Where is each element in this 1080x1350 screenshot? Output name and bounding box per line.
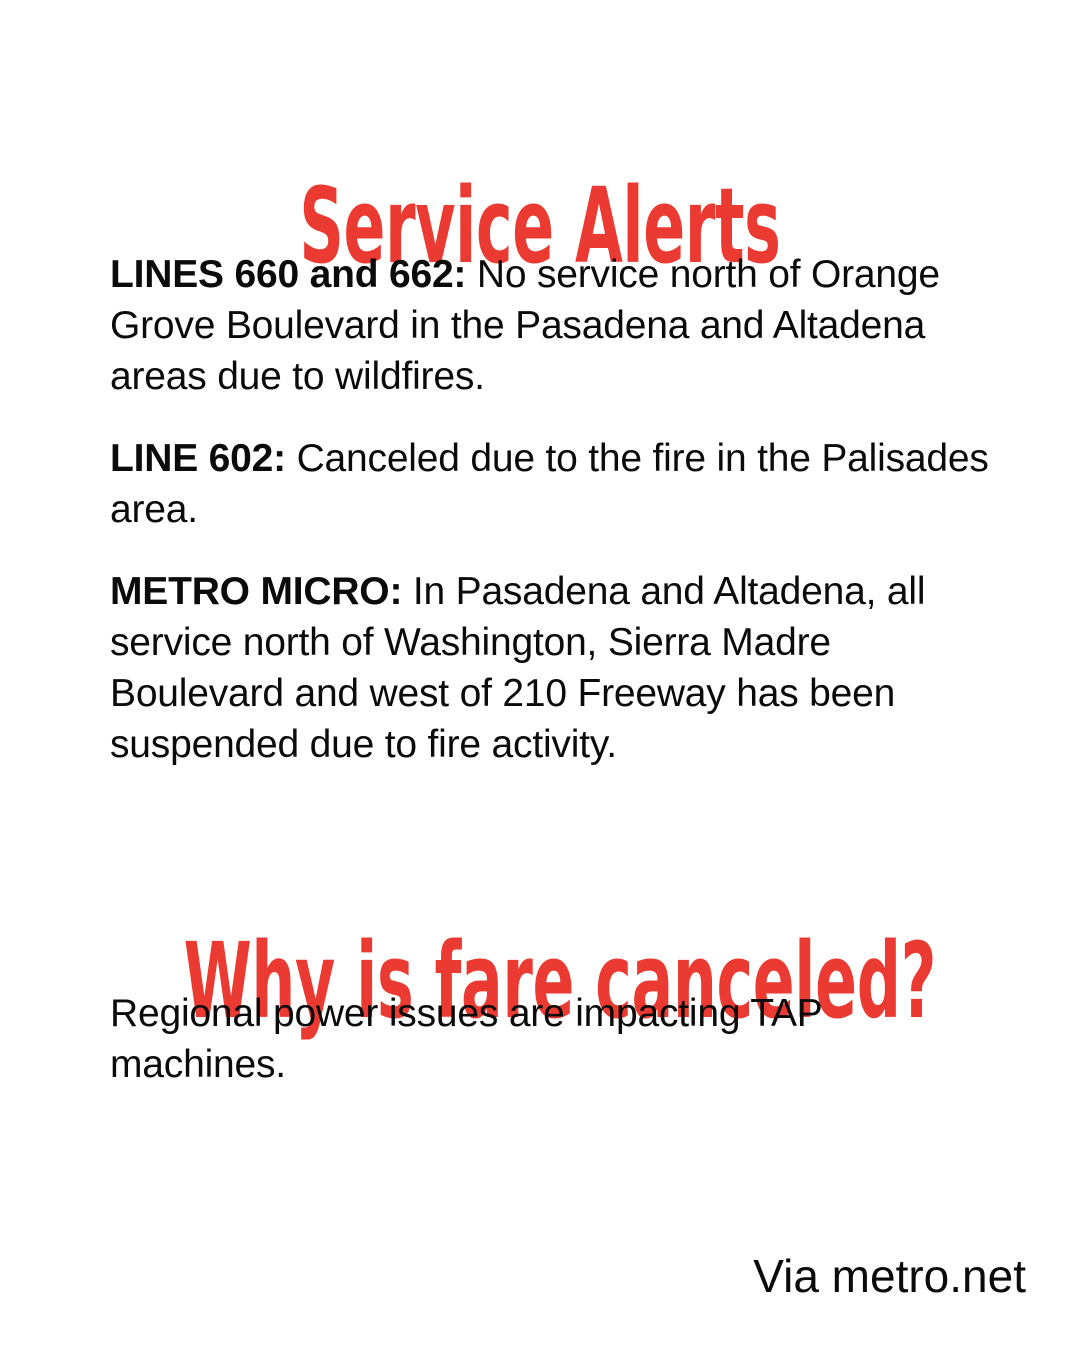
alert-item: METRO MICRO: In Pasadena and Altadena, a… (110, 566, 990, 770)
alert-item: LINES 660 and 662: No service north of O… (110, 249, 990, 402)
alert-line-label: LINES 660 and 662: (110, 253, 466, 296)
alert-line-label: METRO MICRO: (110, 570, 402, 613)
fare-explanation-text: Regional power issues are impacting TAP … (110, 988, 990, 1090)
alert-line-label: LINE 602: (110, 437, 286, 480)
fare-explanation: Regional power issues are impacting TAP … (110, 988, 990, 1090)
source-attribution: Via metro.net (753, 1248, 1026, 1304)
service-alerts-poster: Service Alerts LINES 660 and 662: No ser… (0, 0, 1080, 1350)
service-alerts-list: LINES 660 and 662: No service north of O… (110, 249, 990, 770)
alert-item: LINE 602: Canceled due to the fire in th… (110, 433, 990, 535)
